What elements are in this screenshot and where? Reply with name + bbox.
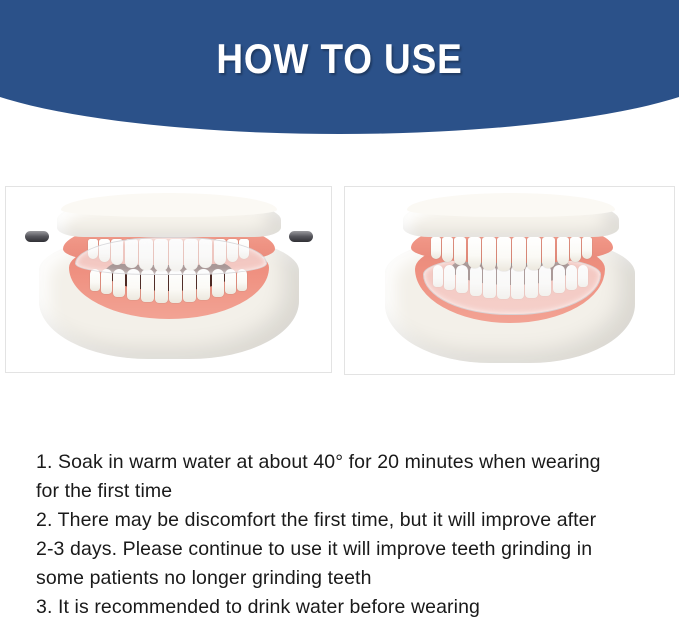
model-upper-teeth (431, 237, 593, 273)
instruction-line-1: 1. Soak in warm water at about 40° for 2… (36, 448, 650, 477)
instruction-line-4: 2-3 days. Please continue to use it will… (36, 535, 650, 564)
instruction-line-2: for the first time (36, 477, 650, 506)
model-hinge-left-icon (25, 231, 49, 242)
dental-model-image-upper (6, 187, 331, 372)
dental-model-image-lower (345, 187, 674, 374)
photo-gallery (5, 186, 675, 376)
photo-card-mouthguard-upper[interactable] (5, 186, 332, 373)
page-title: HOW TO USE (41, 36, 639, 82)
instructions-text-block: 1. Soak in warm water at about 40° for 2… (36, 448, 650, 622)
photo-card-mouthguard-lower[interactable] (344, 186, 675, 375)
dental-model-upper (33, 193, 305, 365)
model-lid-top (61, 193, 277, 217)
header-banner: HOW TO USE (0, 0, 679, 140)
instruction-line-3: 2. There may be discomfort the first tim… (36, 506, 650, 535)
model-hinge-right-icon (289, 231, 313, 242)
model-lid-top (407, 193, 615, 217)
instruction-line-5: some patients no longer grinding teeth (36, 564, 650, 593)
dental-model-lower (381, 195, 639, 365)
instruction-line-6: 3. It is recommended to drink water befo… (36, 593, 650, 622)
